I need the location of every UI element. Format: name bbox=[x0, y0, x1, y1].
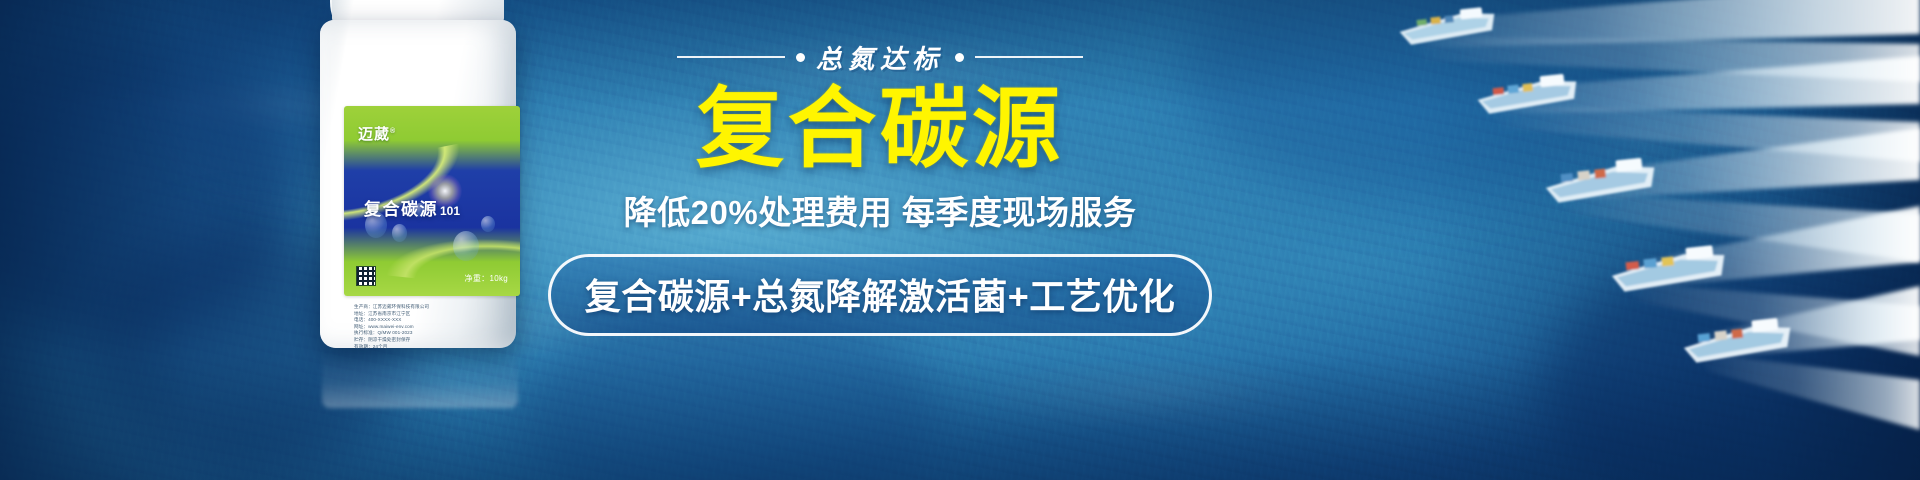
eyebrow-dot-left bbox=[796, 53, 805, 62]
bottle-body: 迈葳® 复合碳源101 净重：10kg 生产商：江苏迈葳环保科技有限公司 地址：… bbox=[320, 20, 516, 348]
label-brand: 迈葳® bbox=[358, 123, 396, 144]
fine-print-line: 有效期：24个月 bbox=[354, 344, 474, 351]
banner-copy: 总氮达标 复合碳源 降低20%处理费用 每季度现场服务 复合碳源+总氮降解激活菌… bbox=[600, 34, 1160, 336]
label-brand-text: 迈葳 bbox=[358, 126, 390, 143]
registered-mark-icon: ® bbox=[390, 128, 396, 135]
fine-print-line: 执行标准：Q/MW 001-2023 bbox=[354, 330, 474, 337]
fine-print-line: 电话：400-XXXX-XXX bbox=[354, 317, 474, 324]
eyebrow-line-right bbox=[975, 56, 1083, 58]
subheadline: 降低20%处理费用 每季度现场服务 bbox=[600, 186, 1160, 234]
label-fine-print: 生产商：江苏迈葳环保科技有限公司 地址：江苏省南京市江宁区 电话：400-XXX… bbox=[354, 304, 474, 350]
formula-pill: 复合碳源+总氮降解激活菌+工艺优化 bbox=[548, 254, 1213, 336]
product-label: 迈葳® 复合碳源101 净重：10kg bbox=[344, 106, 520, 296]
fine-print-line: 生产商：江苏迈葳环保科技有限公司 bbox=[354, 304, 474, 311]
cargo-ship-4 bbox=[1610, 244, 1727, 293]
cargo-ship-5 bbox=[1682, 317, 1793, 364]
pill-row: 复合碳源+总氮降解激活菌+工艺优化 bbox=[600, 254, 1160, 336]
eyebrow-dot-right bbox=[955, 53, 964, 62]
eyebrow-text: 总氮达标 bbox=[816, 39, 944, 76]
product-bottle: 迈葳® 复合碳源101 净重：10kg 生产商：江苏迈葳环保科技有限公司 地址：… bbox=[300, 4, 540, 404]
label-product-model: 101 bbox=[440, 204, 460, 218]
ships-scene bbox=[1140, 0, 1920, 480]
bottle-reflection bbox=[322, 352, 518, 408]
qr-code-icon bbox=[356, 266, 376, 286]
fine-print-line: 贮存：阴凉干燥处密封保存 bbox=[354, 337, 474, 344]
label-product-name-text: 复合碳源 bbox=[364, 200, 438, 219]
eyebrow-line-left bbox=[677, 56, 785, 58]
label-bubble bbox=[392, 224, 407, 242]
headline: 复合碳源 bbox=[600, 84, 1160, 174]
label-net-weight: 净重：10kg bbox=[465, 273, 508, 284]
eyebrow-row: 总氮达标 bbox=[600, 34, 1160, 80]
promo-banner: 迈葳® 复合碳源101 净重：10kg 生产商：江苏迈葳环保科技有限公司 地址：… bbox=[0, 0, 1920, 480]
label-product-name: 复合碳源101 bbox=[364, 195, 460, 220]
ships-svg bbox=[1140, 0, 1920, 480]
